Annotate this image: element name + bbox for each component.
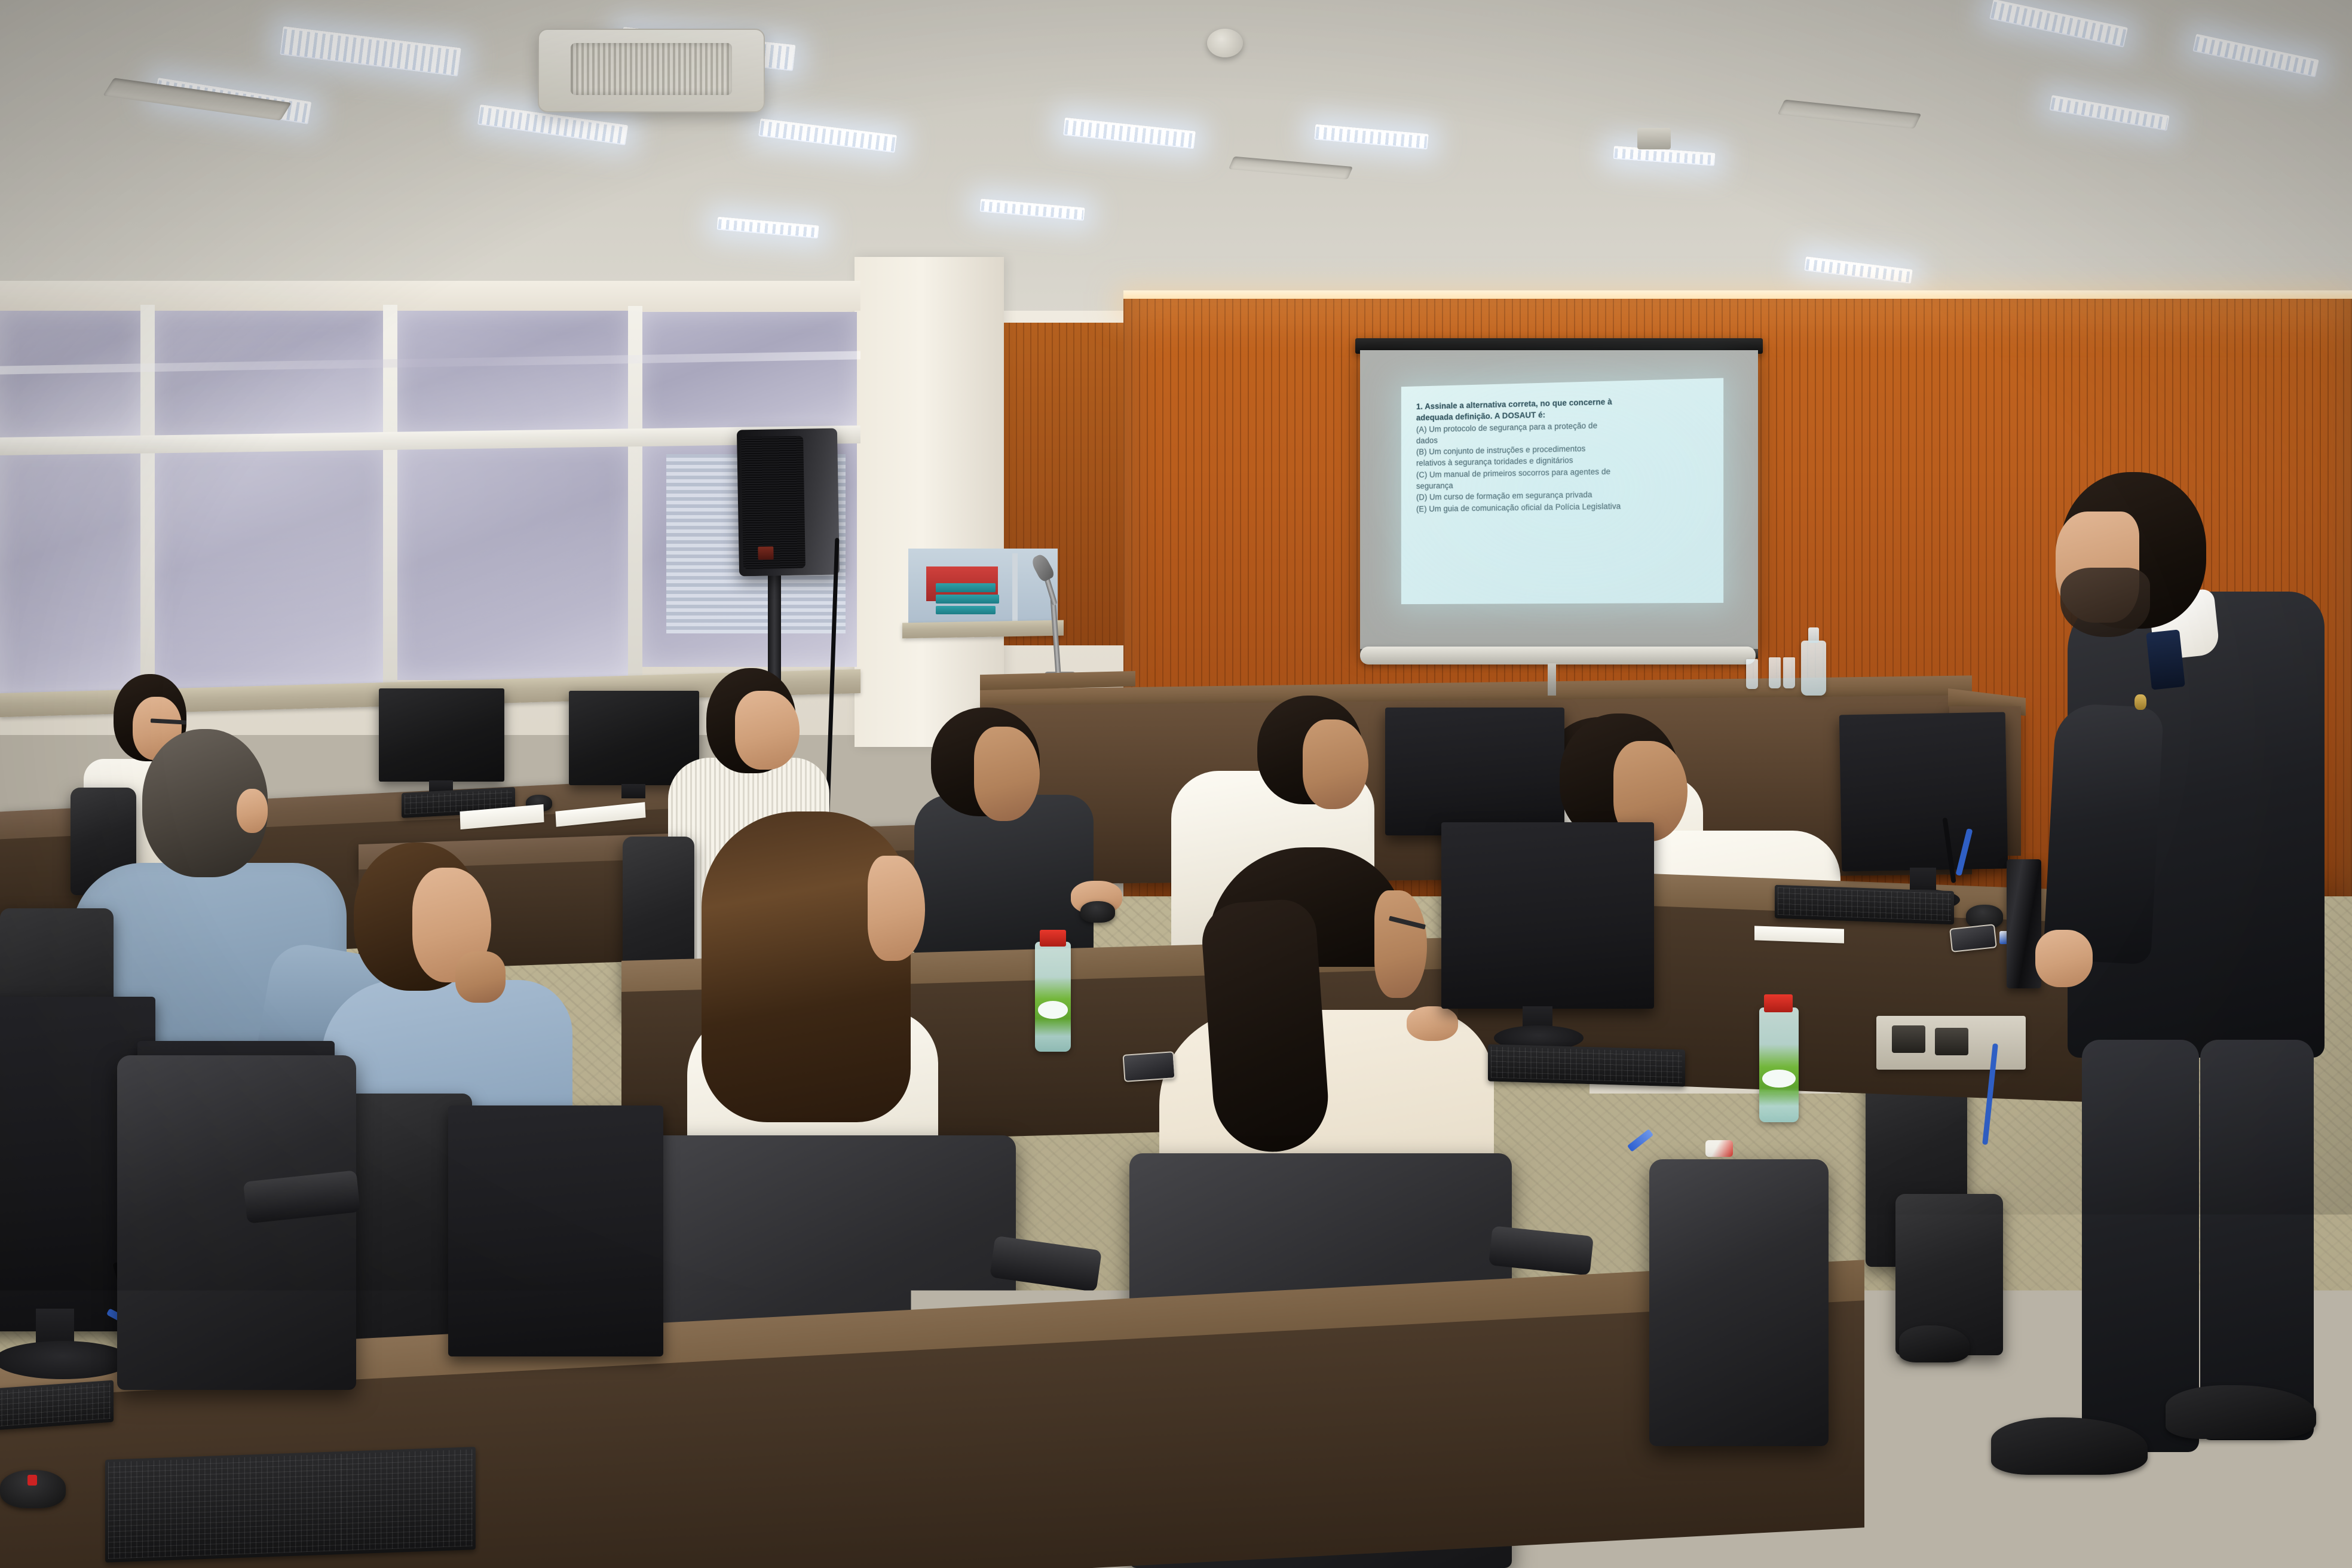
smoke-detector-1 — [1207, 29, 1243, 57]
monitor-right-back[interactable] — [1385, 708, 1564, 835]
candy-wrapper-right-desk — [1705, 1140, 1733, 1157]
instructor-hand — [2035, 930, 2093, 987]
instructor-tie — [2146, 629, 2185, 690]
exterior-road-sign-3 — [936, 606, 996, 614]
ceiling-projector-mount — [1637, 128, 1671, 149]
instructor-beard — [2060, 568, 2150, 637]
participant-blue-shirt-hand — [455, 951, 506, 1003]
water-bottle-mid[interactable] — [1035, 942, 1071, 1052]
window-glass-lower-1 — [0, 448, 140, 699]
window-glass-lower-3 — [397, 443, 630, 680]
instructor-lapel-pin — [2134, 694, 2146, 710]
participant-denim-ear — [237, 789, 268, 833]
floor-power-outlet-1[interactable] — [1892, 1025, 1925, 1053]
drinking-glass-2 — [1769, 657, 1781, 688]
projected-slide: 1. Assinale a alternativa correta, no qu… — [1401, 378, 1723, 605]
wall-pillar — [855, 257, 1004, 747]
speaker-badge — [758, 546, 773, 559]
window-wall — [0, 281, 860, 311]
window-glass-upper-1 — [0, 311, 140, 441]
mouse-dark-shirt[interactable] — [1080, 901, 1115, 923]
instructor-leg-left — [2082, 1040, 2199, 1452]
monitor-back-2-stand — [621, 784, 645, 798]
smartphone-instructor-desk[interactable] — [1949, 924, 1997, 953]
mouse-foreground-left-wheel — [27, 1475, 37, 1486]
water-bottle-right-label — [1762, 1070, 1795, 1088]
window-glass-upper-3 — [397, 311, 630, 435]
participant-ponytail-hand — [1407, 1006, 1458, 1041]
carafe-neck — [1808, 627, 1819, 643]
drinking-glass-1 — [1746, 659, 1758, 689]
participant-dark-shirt-face — [974, 727, 1040, 821]
participant-long-hair-face — [868, 856, 925, 961]
water-carafe — [1801, 641, 1826, 696]
window-glass-upper-2 — [154, 311, 384, 441]
exterior-road-sign-1 — [936, 583, 996, 592]
water-bottle-right-cap — [1764, 994, 1793, 1012]
floor-power-outlet-2[interactable] — [1935, 1028, 1968, 1055]
instructor-arm — [2043, 703, 2164, 965]
participant-ponytail-tail — [1200, 898, 1332, 1156]
pa-speaker[interactable] — [737, 428, 840, 577]
participant-white-shirt-center-face — [1303, 719, 1368, 809]
exterior-pole — [1012, 553, 1018, 625]
keyboard-foreground-center[interactable] — [105, 1447, 476, 1563]
chair-foreground-far-right[interactable] — [1649, 1159, 1829, 1446]
water-bottle-right[interactable] — [1759, 1007, 1799, 1122]
smartphone-mid-desk[interactable] — [1123, 1051, 1176, 1082]
drinking-glass-3 — [1783, 657, 1795, 688]
monitor-back-1[interactable] — [379, 688, 504, 782]
participant-ponytail-face — [1374, 890, 1427, 998]
water-bottle-right-body — [1759, 1007, 1799, 1122]
window-glass-upper-4 — [642, 312, 857, 431]
screen-roller-leg — [1548, 663, 1556, 696]
ac-grille — [571, 43, 733, 95]
keyboard-ponytail[interactable] — [1488, 1044, 1685, 1086]
exterior-road-sign-2 — [936, 595, 999, 604]
window-glass-lower-2 — [154, 447, 384, 691]
window-sill-far — [902, 620, 1064, 639]
monitor-foreground-right[interactable] — [448, 1105, 663, 1356]
monitor-foreground-left-base — [0, 1341, 131, 1379]
screen-bottom-roller — [1360, 647, 1756, 664]
ceiling-ac-cassette — [538, 29, 765, 112]
water-bottle-mid-body — [1035, 942, 1071, 1052]
water-bottle-mid-label — [1038, 1001, 1068, 1018]
monitor-ponytail[interactable] — [1441, 822, 1654, 1009]
keyboard-instructor-desk[interactable] — [1775, 885, 1954, 924]
instructor-leg-right — [2200, 1040, 2314, 1440]
water-bottle-mid-cap — [1040, 930, 1066, 947]
chair-foreground-left[interactable] — [117, 1055, 356, 1390]
classroom-photo: 1. Assinale a alternativa correta, no qu… — [0, 0, 2352, 1568]
monitor-instructor-desk[interactable] — [1839, 712, 2008, 872]
participant-striped-face — [735, 691, 800, 770]
